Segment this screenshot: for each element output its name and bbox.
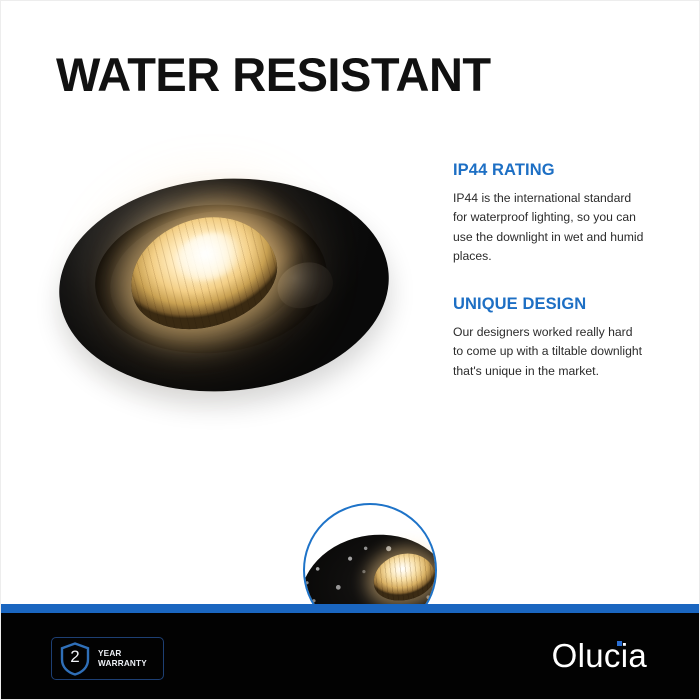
warranty-badge: 2 YEAR WARRANTY <box>51 637 164 680</box>
feature-body: Our designers worked really hard to come… <box>453 323 645 381</box>
feature-ip44-rating: IP44 RATING IP44 is the international st… <box>453 161 645 266</box>
feature-body: IP44 is the international standard for w… <box>453 189 645 266</box>
warranty-label-line2: WARRANTY <box>98 659 147 669</box>
shield-icon: 2 <box>60 642 90 676</box>
marketing-banner: WATER RESISTANT IP44 RATING IP44 is the … <box>0 0 700 700</box>
footer-bar: 2 YEAR WARRANTY Olucia <box>1 613 699 699</box>
feature-list: IP44 RATING IP44 is the international st… <box>453 161 645 381</box>
logo-accent-dot-icon <box>617 641 622 646</box>
feature-heading: UNIQUE DESIGN <box>453 295 645 314</box>
brand-logo-text: Olucia <box>552 637 647 674</box>
feature-unique-design: UNIQUE DESIGN Our designers worked reall… <box>453 295 645 381</box>
brand-logo: Olucia <box>552 639 647 672</box>
warranty-label: YEAR WARRANTY <box>98 649 147 669</box>
warranty-years-number: 2 <box>60 648 90 665</box>
warranty-label-line1: YEAR <box>98 649 147 659</box>
product-image <box>41 171 461 501</box>
page-title: WATER RESISTANT <box>56 47 491 102</box>
feature-heading: IP44 RATING <box>453 161 645 180</box>
accent-divider <box>1 604 699 613</box>
